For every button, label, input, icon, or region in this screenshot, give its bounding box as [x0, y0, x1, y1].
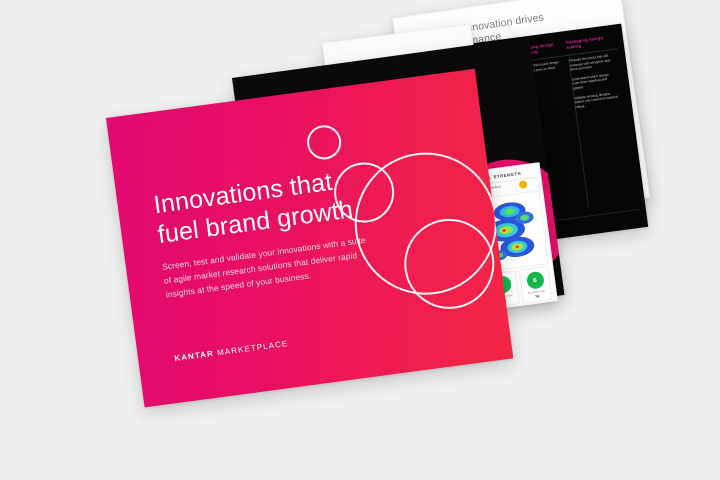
logo-marketplace: MARKETPLACE	[217, 339, 289, 357]
table-cell-text: Validate winning designs before you comm…	[574, 90, 620, 110]
gauge-disc-icon: B	[525, 271, 544, 290]
table-cell-text: Understand which design cues drive stand…	[572, 72, 618, 92]
warning-badge-icon	[519, 180, 528, 189]
ring-decoration-small	[305, 123, 343, 161]
slide-deck-composition: Successful innovation drives brand perfo…	[0, 0, 720, 480]
logo-kantar: KANTAR	[174, 349, 215, 363]
score-gauge: BBranding clarity74	[518, 266, 552, 304]
table-cell-text: Pinpoint the packs that will resonate wi…	[569, 53, 615, 73]
kantar-marketplace-logo: KANTAR MARKETPLACE	[174, 339, 289, 363]
table-column-header: Packaging design testing	[566, 33, 617, 50]
slide-hero-innovations[interactable]: Innovations that fuel brand growth Scree…	[106, 69, 513, 408]
